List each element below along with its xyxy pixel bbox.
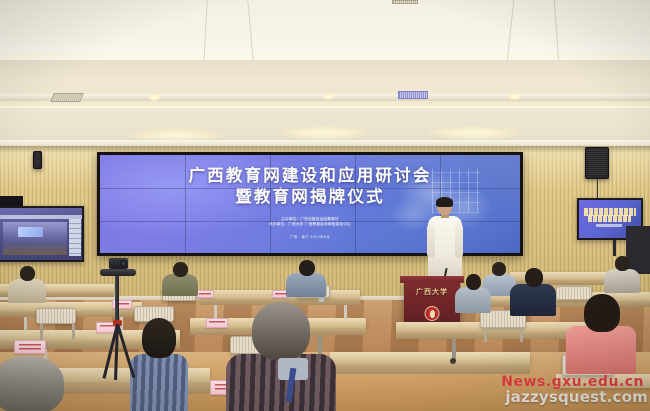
audience-body [286,273,326,297]
camera-tripod [96,258,138,378]
tripod-leg [116,324,135,378]
wall-speaker-left [33,151,42,169]
audience-body [455,287,491,313]
audience-body [162,274,198,296]
audience-head [466,274,481,290]
chair-frame [40,324,43,340]
audience-member [162,262,198,292]
audience-head [492,262,506,276]
ceiling-vent [392,0,418,4]
audience-member [8,266,46,298]
desk-row4-center [330,352,530,364]
university-emblem-icon [425,306,440,321]
desk-leg [214,305,217,319]
audience-head [525,268,543,287]
chair-frame [520,328,523,342]
ceiling-light-pool [278,126,370,140]
desk-row4-center-edge [330,364,530,374]
tripod-center-column [115,276,119,324]
ceiling-light-pool [428,126,520,140]
speaker-cable [597,179,598,199]
audience-head [252,302,310,360]
presenter-arm-left [427,224,435,258]
audience-head [299,260,315,276]
audience-member [510,268,556,312]
ceiling-mid-panel [0,60,650,110]
presenter-arm-right [455,224,463,258]
watermark-site-white: jazzysquest.com [505,388,648,406]
left-monitor-screen [0,208,82,260]
mirrored-subtitle [596,224,622,227]
wall-speaker-right [585,147,609,179]
chair-frame [484,328,487,342]
ceiling-upper-panel [0,0,650,62]
remote-slide-thumbnail [18,227,43,237]
ceiling-vent [50,93,84,102]
audience-body [8,279,46,303]
audience-head [0,356,64,411]
audience-member [455,274,491,310]
ceiling-vent-lit [398,91,428,99]
panel-seam [355,155,356,253]
panel-seam [270,155,271,253]
slide-title-line-1: 广西教育网建设和应用研讨会 [100,165,520,186]
left-video-conference-monitor[interactable] [0,206,84,262]
name-placard [14,340,46,354]
name-placard [196,290,214,298]
audience-member-front-left [0,356,78,411]
ceiling-downlight [508,93,521,100]
audience-member-front-center [226,302,336,411]
audience-body [604,269,640,293]
chair-frame [72,324,75,340]
ceiling-downlight [322,93,335,100]
audience-member [646,294,650,342]
audience-body [510,284,556,316]
ceiling-downlight [148,94,161,101]
presenter-hair [436,197,453,207]
desk-leg [24,317,27,331]
desk-leg [344,305,347,319]
panel-seam [185,155,186,253]
tripod-leg [114,324,119,380]
audience-member-front-right [566,294,636,364]
audience-head [615,256,630,271]
name-placard [206,318,228,328]
video-camera-body [109,258,128,269]
audience-member [130,318,188,411]
audience-head [584,294,620,332]
chair [36,308,76,324]
camera-lens-icon [120,260,127,267]
participant-thumbnail-strip [69,219,81,255]
audience-member [604,256,640,288]
audience-head [20,266,35,281]
panel-seam [100,188,520,189]
mirrored-title-line-2 [588,215,631,222]
audience-head [173,262,188,277]
audience-body [130,354,188,411]
conference-room-photo: 广西教育网建设和应用研讨会 暨教育网揭牌仪式 主办单位：广西壮族自治区教育厅 承… [0,0,650,411]
monitor-stand [613,240,616,256]
audience-member [286,260,326,294]
audience-body [566,326,636,374]
podium-institution-label: 广西大学 [404,287,460,297]
camera-mount-plate [100,269,136,276]
desk-caster [450,358,456,364]
audience-head [142,318,176,358]
